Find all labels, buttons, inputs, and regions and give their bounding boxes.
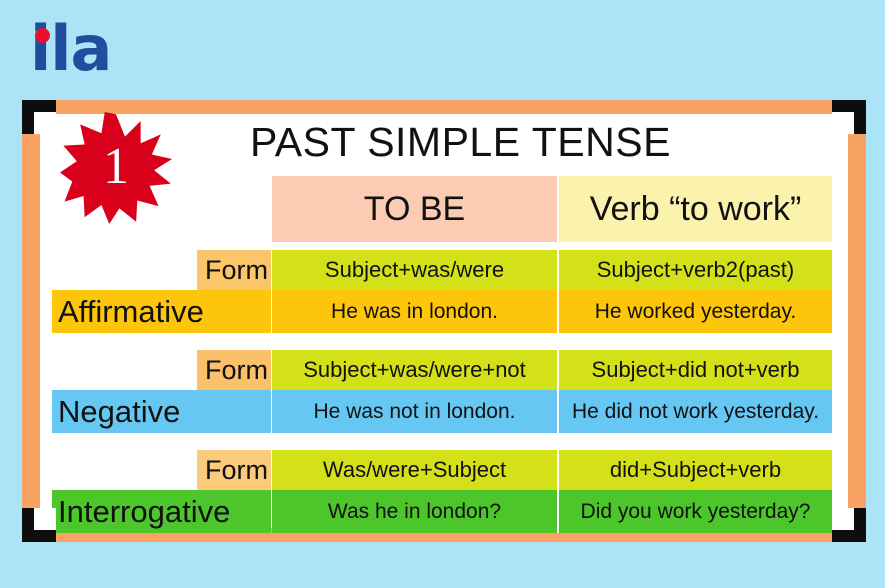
corner-bracket-bottom-right bbox=[832, 508, 866, 542]
lesson-number-text: 1 bbox=[60, 112, 172, 224]
negative-verb-example: He did not work yesterday. bbox=[559, 390, 832, 433]
form-label-negative: Form bbox=[197, 350, 271, 390]
column-header-to-be: TO BE bbox=[272, 176, 557, 242]
corner-bracket-top-left bbox=[22, 100, 56, 134]
interrogative-column-divider bbox=[557, 450, 559, 533]
page-title: PAST SIMPLE TENSE bbox=[250, 119, 670, 166]
row-type-interrogative: Interrogative bbox=[52, 490, 271, 533]
affirmative-verb-form: Subject+verb2(past) bbox=[559, 250, 832, 290]
table-row-interrogative: Form Interrogative Was/were+Subject Was … bbox=[52, 450, 836, 533]
tense-table: TO BE Verb “to work” Form Affirmative Su… bbox=[52, 176, 836, 528]
column-header-verb: Verb “to work” bbox=[559, 176, 832, 242]
affirmative-column-divider bbox=[557, 250, 559, 333]
header-column-divider bbox=[557, 176, 559, 242]
interrogative-to-be-form: Was/were+Subject bbox=[272, 450, 557, 490]
brand-logo: ila bbox=[22, 14, 222, 90]
negative-column-divider bbox=[557, 350, 559, 433]
negative-verb-form: Subject+did not+verb bbox=[559, 350, 832, 390]
interrogative-verb-form: did+Subject+verb bbox=[559, 450, 832, 490]
affirmative-to-be-example: He was in london. bbox=[272, 290, 557, 333]
affirmative-verb-example: He worked yesterday. bbox=[559, 290, 832, 333]
brand-logo-dot-icon bbox=[35, 28, 50, 43]
form-label-affirmative: Form bbox=[197, 250, 271, 290]
interrogative-verb-example: Did you work yesterday? bbox=[559, 490, 832, 533]
row-type-negative: Negative bbox=[52, 390, 271, 433]
row-type-affirmative: Affirmative bbox=[52, 290, 271, 333]
negative-to-be-form: Subject+was/were+not bbox=[272, 350, 557, 390]
affirmative-to-be-form: Subject+was/were bbox=[272, 250, 557, 290]
corner-bracket-top-right bbox=[832, 100, 866, 134]
form-label-interrogative: Form bbox=[197, 450, 271, 490]
interrogative-to-be-example: Was he in london? bbox=[272, 490, 557, 533]
table-row-affirmative: Form Affirmative Subject+was/were He was… bbox=[52, 250, 836, 333]
corner-bracket-bottom-left bbox=[22, 508, 56, 542]
negative-to-be-example: He was not in london. bbox=[272, 390, 557, 433]
lesson-number-badge: 1 bbox=[60, 112, 172, 224]
table-row-negative: Form Negative Subject+was/were+not He wa… bbox=[52, 350, 836, 433]
